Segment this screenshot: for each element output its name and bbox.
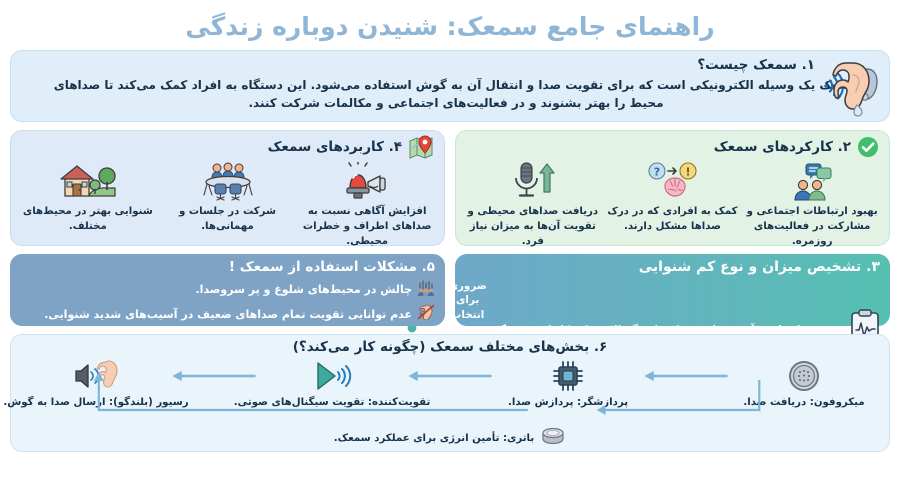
column-left: ۴. کاربردهای سمعک	[10, 130, 445, 326]
section6-flow: میکروفون: دریافت صدا.	[21, 358, 879, 420]
section-how-it-works: ۶. بخش‌های مختلف سمعک (چگونه کار می‌کند؟…	[10, 334, 890, 452]
section2-item-caption: دریافت صداهای محیطی و تقویت آن‌ها به میز…	[464, 205, 602, 249]
people-chat-icon	[789, 160, 835, 202]
section4-item-caption: شرکت در جلسات و مهمانی‌ها.	[159, 205, 297, 235]
battery-caption: باتری: تأمین انرژی برای عملکرد سمعک.	[334, 433, 534, 444]
section4-item-caption: شنوایی بهتر در محیط‌های مختلف.	[19, 205, 157, 235]
flow-arrow	[643, 358, 729, 394]
flow-node-caption: میکروفون: دریافت صدا.	[743, 396, 864, 409]
amplifier-icon	[312, 358, 352, 394]
battery-row: باتری: تأمین انرژی برای عملکرد سمعک.	[11, 427, 889, 449]
middle-columns: ۲. کارکردهای سمعک	[10, 130, 890, 326]
section2-item-caption: کمک به افرادی که در درک صداها مشکل دارند…	[604, 205, 742, 235]
section-problems: ۵. مشکلات استفاده از سمعک !	[10, 254, 445, 326]
flow-node-amplifier: تقویت‌کننده: تقویت سیگنال‌های صوتی.	[257, 358, 407, 409]
section2-item-people-chat: بهبود ارتباطات اجتماعی و مشارکت در فعالی…	[743, 160, 881, 249]
section4-heading: ۴. کاربردهای سمعک	[268, 139, 402, 155]
svg-text:!: !	[685, 166, 690, 179]
flow-node-caption: تقویت‌کننده: تقویت سیگنال‌های صوتی.	[234, 396, 431, 409]
microphone-up-arrow-icon	[509, 160, 557, 202]
flow-node-processor: پردازشگر: پردازش صدا.	[493, 358, 643, 409]
section2-item-brain-question: ? !	[604, 160, 742, 249]
section1-body: سمعک یک وسیله الکترونیکی است که برای تقو…	[23, 75, 877, 113]
flow-arrow	[171, 358, 257, 394]
ear-crossed-icon	[417, 304, 435, 326]
section4-item-house: شنوایی بهتر در محیط‌های مختلف.	[19, 160, 157, 249]
section2-item-caption: بهبود ارتباطات اجتماعی و مشارکت در فعالی…	[743, 205, 881, 249]
noisy-crowd-icon	[417, 280, 435, 302]
flow-row: میکروفون: دریافت صدا.	[21, 358, 879, 409]
flow-arrow	[407, 358, 493, 394]
check-circle-icon	[857, 136, 879, 158]
section5-item: چالش در محیط‌های شلوغ و پر سروصدا.	[20, 280, 435, 302]
section4-items: افزایش آگاهی نسبت به صداهای اطراف و خطرا…	[19, 160, 436, 249]
section1-heading: ۱. سمعک چیست؟	[23, 57, 877, 75]
section-what-is-hearing-aid: ۱. سمعک چیست؟ سمعک یک وسیله الکترونیکی ا…	[10, 50, 890, 122]
section2-heading: ۲. کارکردهای سمعک	[714, 139, 851, 155]
section4-header: ۴. کاربردهای سمعک	[19, 136, 436, 158]
speaker-ear-icon	[72, 358, 120, 394]
section3-heading: ۳. تشخیص میزان و نوع کم شنوایی	[463, 259, 882, 277]
section5-item-text: عدم توانایی تقویت تمام صداهای ضعیف در آس…	[44, 307, 412, 324]
brain-question-icon: ? !	[645, 160, 701, 202]
flow-node-caption: پردازشگر: پردازش صدا.	[508, 396, 628, 409]
section5-item: عدم توانایی تقویت تمام صداهای ضعیف در آس…	[20, 304, 435, 326]
section-functions: ۲. کارکردهای سمعک	[455, 130, 890, 246]
coin-battery-icon	[540, 427, 566, 449]
ear-hearing-aid-icon	[819, 55, 883, 117]
flow-node-caption: رسیور (بلندگو): ارسال صدا به گوش.	[3, 396, 188, 409]
flow-node-microphone: میکروفون: دریافت صدا.	[729, 358, 879, 409]
section-diagnosis: ۳. تشخیص میزان و نوع کم شنوایی	[455, 254, 890, 326]
page-title: راهنمای جامع سمعک: شنیدن دوباره زندگی	[0, 0, 900, 50]
meeting-table-icon	[200, 160, 256, 202]
section4-item-caption: افزایش آگاهی نسبت به صداهای اطراف و خطرا…	[298, 205, 436, 249]
chip-processor-icon	[551, 358, 585, 394]
section5-heading: ۵. مشکلات استفاده از سمعک !	[20, 259, 435, 277]
flow-node-receiver: رسیور (بلندگو): ارسال صدا به گوش.	[21, 358, 171, 409]
section5-item-text: چالش در محیط‌های شلوغ و پر سروصدا.	[196, 282, 413, 299]
section2-header: ۲. کارکردهای سمعک	[464, 136, 881, 158]
section2-item-microphone: دریافت صداهای محیطی و تقویت آن‌ها به میز…	[464, 160, 602, 249]
infographic-page: راهنمای جامع سمعک: شنیدن دوباره زندگی	[0, 0, 900, 491]
svg-text:?: ?	[653, 166, 659, 179]
siren-horn-icon	[341, 160, 393, 202]
section4-item-meeting: شرکت در جلسات و مهمانی‌ها.	[159, 160, 297, 249]
section4-item-siren: افزایش آگاهی نسبت به صداهای اطراف و خطرا…	[298, 160, 436, 249]
microphone-round-icon	[787, 358, 821, 394]
section-applications: ۴. کاربردهای سمعک	[10, 130, 445, 246]
section2-items: بهبود ارتباطات اجتماعی و مشارکت در فعالی…	[464, 160, 881, 249]
section6-heading: ۶. بخش‌های مختلف سمعک (چگونه کار می‌کند؟…	[21, 339, 879, 357]
map-pin-icon	[408, 135, 434, 159]
column-right: ۲. کارکردهای سمعک	[455, 130, 890, 326]
house-tree-icon	[57, 160, 119, 202]
